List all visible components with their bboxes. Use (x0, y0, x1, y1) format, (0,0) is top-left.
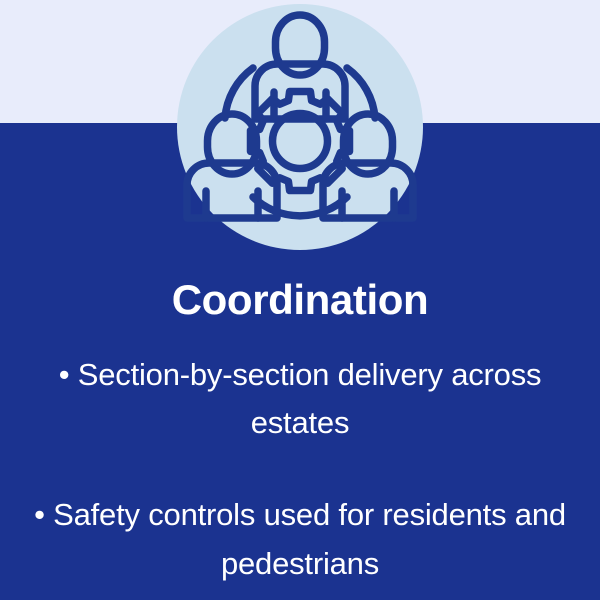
page-title: Coordination (0, 275, 600, 325)
card-text-block: Coordination • Section-by-section delive… (0, 275, 600, 588)
team-coordination-icon (177, 4, 423, 250)
coordination-info-card: Coordination • Section-by-section delive… (0, 0, 600, 600)
bullet-list: • Section-by-section delivery across est… (0, 351, 600, 588)
list-item: • Safety controls used for residents and… (0, 491, 600, 588)
list-item: • Section-by-section delivery across est… (0, 351, 600, 448)
